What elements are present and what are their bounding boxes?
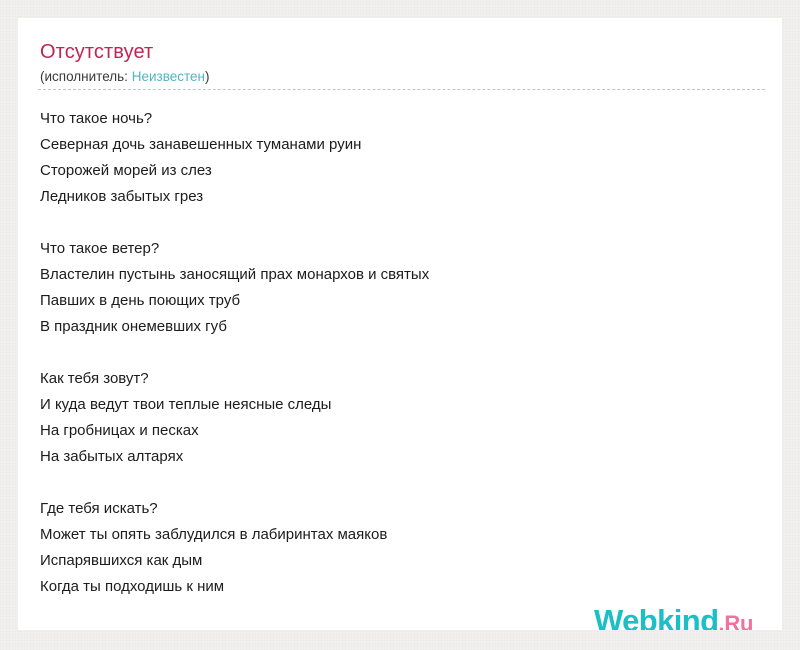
lyric-line: На гробницах и песках: [40, 418, 762, 444]
site-logo-tld: .Ru: [718, 611, 753, 630]
lyrics-card: Отсутствует (исполнитель: Неизвестен) Чт…: [18, 18, 782, 630]
page-title: Отсутствует: [40, 40, 764, 64]
lyric-line: Когда ты подходишь к ним: [40, 574, 762, 600]
lyric-line: Что такое ночь?: [40, 106, 762, 132]
lyric-line: Испарявшихся как дым: [40, 548, 762, 574]
lyric-line: Властелин пустынь заносящий прах монархо…: [40, 262, 762, 288]
artist-suffix-label: ): [205, 69, 210, 84]
lyric-line: Павших в день поющих труб: [40, 288, 762, 314]
lyric-line: Северная дочь занавешенных туманами руин: [40, 132, 762, 158]
site-logo: Webkind.Ru тексты песен: [594, 604, 782, 630]
lyrics-stanza: Где тебя искать? Может ты опять заблудил…: [40, 496, 762, 600]
site-logo-name: Webkind: [594, 603, 718, 630]
lyric-line: И куда ведут твои теплые неясные следы: [40, 392, 762, 418]
artist-link[interactable]: Неизвестен: [132, 69, 205, 84]
lyric-line: Сторожей морей из слез: [40, 158, 762, 184]
lyric-line: Ледников забытых грез: [40, 184, 762, 210]
lyric-line: Что такое ветер?: [40, 236, 762, 262]
lyric-line: Как тебя зовут?: [40, 366, 762, 392]
artist-line: (исполнитель: Неизвестен): [40, 68, 764, 85]
lyrics-stanza: Что такое ночь? Северная дочь занавешенн…: [40, 106, 762, 210]
lyrics-stanza: Что такое ветер? Властелин пустынь занос…: [40, 236, 762, 340]
lyrics-body: Что такое ночь? Северная дочь занавешенн…: [40, 106, 762, 600]
header-divider: [38, 89, 765, 90]
page-root: Отсутствует (исполнитель: Неизвестен) Чт…: [0, 0, 800, 650]
site-logo-wordmark: Webkind.Ru: [594, 604, 753, 630]
lyric-line: Где тебя искать?: [40, 496, 762, 522]
song-header: Отсутствует (исполнитель: Неизвестен): [40, 40, 764, 85]
artist-prefix-label: (исполнитель:: [40, 69, 128, 84]
lyric-line: Может ты опять заблудился в лабиринтах м…: [40, 522, 762, 548]
lyrics-stanza: Как тебя зовут? И куда ведут твои теплые…: [40, 366, 762, 470]
lyric-line: В праздник онемевших губ: [40, 314, 762, 340]
lyric-line: На забытых алтарях: [40, 444, 762, 470]
